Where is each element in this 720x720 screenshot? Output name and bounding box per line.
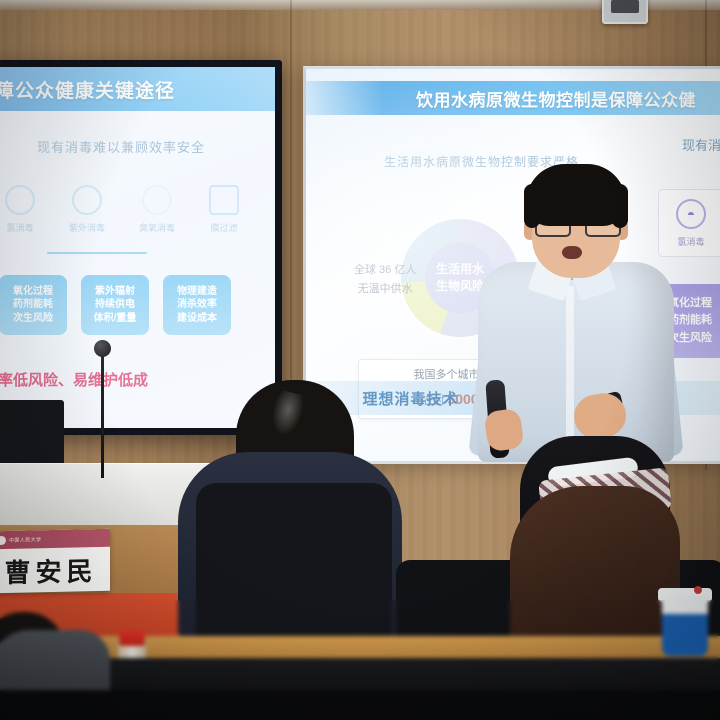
wall-panel-screen: [611, 0, 639, 13]
tv-icon-row: 氯消毒 紫外消毒 臭氧消毒 膜过滤: [5, 185, 239, 234]
proj-subtitle-right: 现有消: [682, 135, 720, 154]
tv-box-line: 物理建造: [177, 285, 217, 299]
global-stat-line: 无温中供水: [354, 280, 416, 299]
gooseneck-microphone-stand: [101, 352, 104, 478]
tv-box-line: 体积/重量: [94, 312, 137, 326]
tv-icon-label: 氯消毒: [6, 221, 33, 234]
tv-box-row: 氧化过程 药剂能耗 次生风险 紫外辐射 持续供电 体积/重量 物理建造 消杀效率…: [0, 275, 231, 335]
tv-slide-title-bar: 障公众健康关键途径: [0, 67, 275, 111]
tv-info-box: 紫外辐射 持续供电 体积/重量: [81, 275, 149, 335]
placard-name-text: 曹安民: [0, 547, 110, 593]
tv-box-line: 次生风险: [13, 312, 53, 326]
gooseneck-microphone-head: [94, 340, 111, 357]
presenter-mouth: [562, 246, 582, 259]
tv-box-line: 建设成本: [177, 312, 217, 326]
tv-icon-cell: 氯消毒: [5, 185, 35, 234]
tv-slide-footer: 效率低风险、易维护低成: [0, 369, 148, 390]
wall-mounted-display: 障公众健康关键途径 现有消毒难以兼顾效率安全 氯消毒 紫外消毒 臭氧消毒: [0, 60, 282, 435]
tv-icon-label: 膜过滤: [211, 221, 238, 234]
tv-icon-label: 臭氧消毒: [139, 221, 175, 234]
coffee-cup: [662, 596, 708, 656]
tv-icon-cell: 臭氧消毒: [139, 185, 175, 234]
tv-info-box: 物理建造 消杀效率 建设成本: [163, 275, 231, 335]
presenter-left-hand: [483, 408, 524, 453]
tv-slide-title: 障公众健康关键途径: [0, 76, 175, 103]
droplet-icon: ◓: [676, 199, 706, 229]
tv-box-line: 消杀效率: [177, 298, 217, 312]
global-stat-line: 全球 36 亿人: [354, 261, 416, 280]
presenter-hair: [526, 164, 626, 226]
tv-icon-cell: 膜过滤: [209, 185, 239, 234]
chem-card-label: 氯消毒: [677, 235, 704, 248]
tv-box-line: 药剂能耗: [13, 298, 53, 312]
tv-box-line: 持续供电: [95, 298, 135, 312]
tv-info-box: 氧化过程 药剂能耗 次生风险: [0, 275, 67, 335]
presenter: [470, 158, 680, 458]
wave-icon: [142, 185, 172, 215]
conference-room-photo: 障公众健康关键途径 现有消毒难以兼顾效率安全 氯消毒 紫外消毒 臭氧消毒: [0, 0, 720, 720]
placard-university: 中国人民大学: [9, 536, 41, 544]
tv-slide-subtitle: 现有消毒难以兼顾效率安全: [37, 137, 205, 156]
banner-left-text: 理想消毒技术: [362, 388, 458, 409]
tv-icon-label: 紫外消毒: [69, 221, 105, 234]
name-placard: 中国人民大学 曹安民: [0, 529, 110, 593]
foreground-desk-edge: [0, 690, 720, 720]
global-stat: 全球 36 亿人 无温中供水: [354, 261, 416, 298]
water-bottle-cap: [119, 630, 145, 646]
tv-icon-underline: [47, 252, 147, 254]
circle-arrow-icon: [72, 185, 102, 215]
tv-box-line: 紫外辐射: [95, 285, 135, 299]
proj-title-bar: 饮用水病原微生物控制是保障公众健: [306, 81, 720, 115]
tv-box-line: 氧化过程: [13, 285, 53, 299]
university-logo-icon: [0, 535, 6, 544]
tv-icon-cell: 紫外消毒: [69, 185, 105, 234]
proj-slide-title: 饮用水病原微生物控制是保障公众健: [306, 86, 696, 111]
layers-icon: [209, 185, 239, 215]
wall-control-panel[interactable]: [602, 0, 648, 24]
display-screen: 障公众健康关键途径 现有消毒难以兼顾效率安全 氯消毒 紫外消毒 臭氧消毒: [0, 67, 275, 428]
coffee-cup-tab: [694, 586, 702, 594]
droplet-icon: [5, 185, 35, 215]
